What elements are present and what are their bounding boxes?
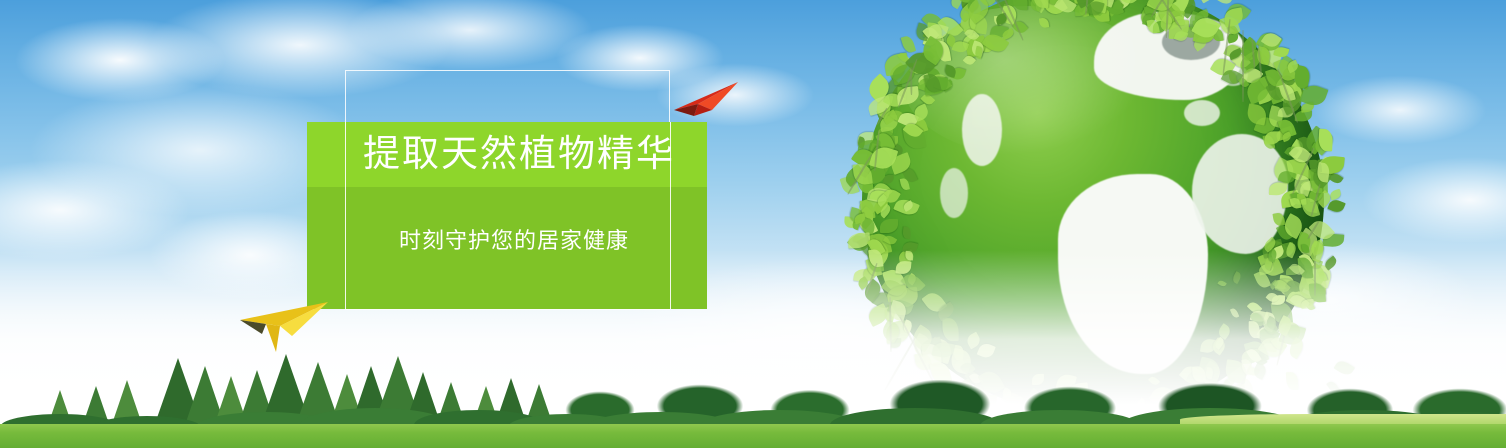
landmass-spot <box>1184 100 1220 126</box>
red-paper-airplane <box>672 80 740 120</box>
landmass-spot <box>940 168 968 218</box>
yellow-paper-airplane <box>236 296 332 356</box>
frame-vertical-line-left <box>345 122 346 309</box>
promo-banner: 提取天然植物精华 时刻守护您的居家健康 <box>0 0 1506 448</box>
headline-panel: 提取天然植物精华 时刻守护您的居家健康 <box>307 122 707 309</box>
green-grass-field <box>0 424 1506 448</box>
banner-title: 提取天然植物精华 <box>363 130 707 178</box>
banner-subtitle: 时刻守护您的居家健康 <box>399 226 629 256</box>
globe-vine <box>1242 30 1244 102</box>
globe-leaf <box>902 227 911 240</box>
globe-leaf <box>901 35 916 54</box>
globe-leaf <box>1222 8 1244 28</box>
